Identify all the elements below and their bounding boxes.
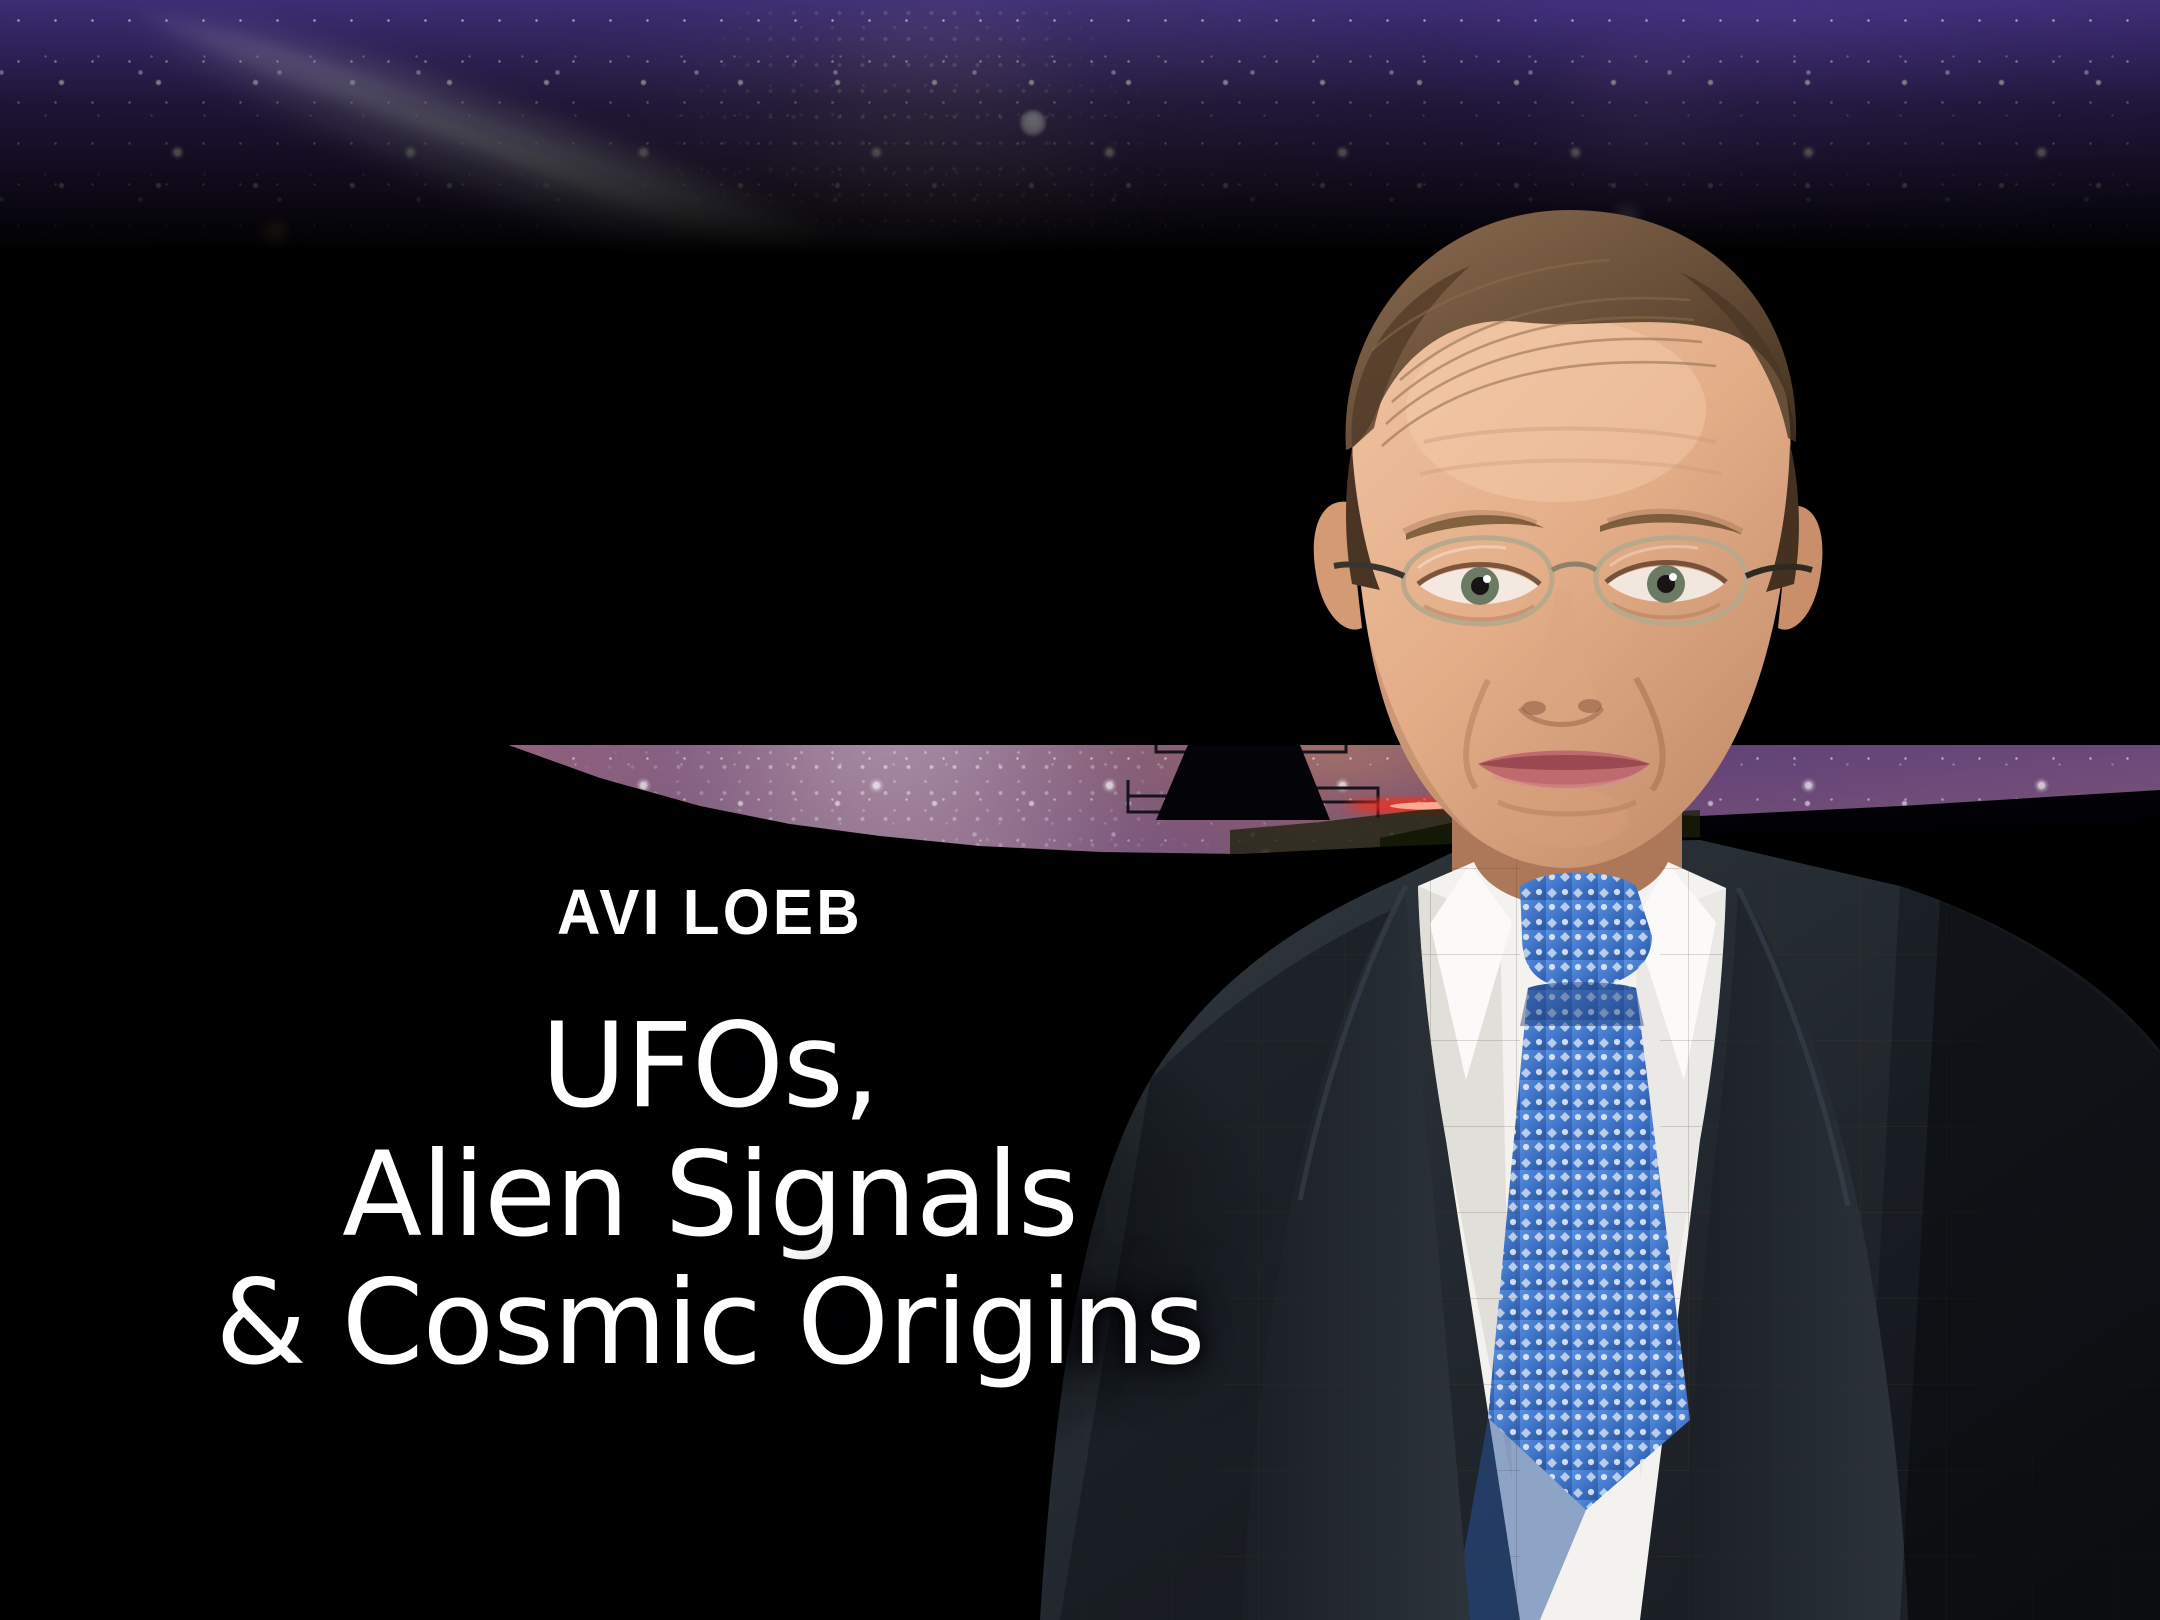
- portrait-edge-shadow: [1900, 900, 2160, 1620]
- title-line-2: Alien Signals: [0, 1131, 1420, 1260]
- speaker-name: AVI LOEB: [43, 880, 1378, 944]
- tie-knot-shadow: [1520, 982, 1644, 1026]
- title-block: AVI LOEB UFOs, Alien Signals & Cosmic Or…: [0, 880, 1420, 1388]
- tie-knot: [1520, 873, 1652, 989]
- head: [1334, 210, 1812, 880]
- title-line-3: & Cosmic Origins: [0, 1259, 1420, 1388]
- title-line-1: UFOs,: [0, 1002, 1420, 1131]
- podcast-cover-poster: AVI LOEB UFOs, Alien Signals & Cosmic Or…: [0, 0, 2160, 1620]
- page-title: UFOs, Alien Signals & Cosmic Origins: [0, 1002, 1420, 1388]
